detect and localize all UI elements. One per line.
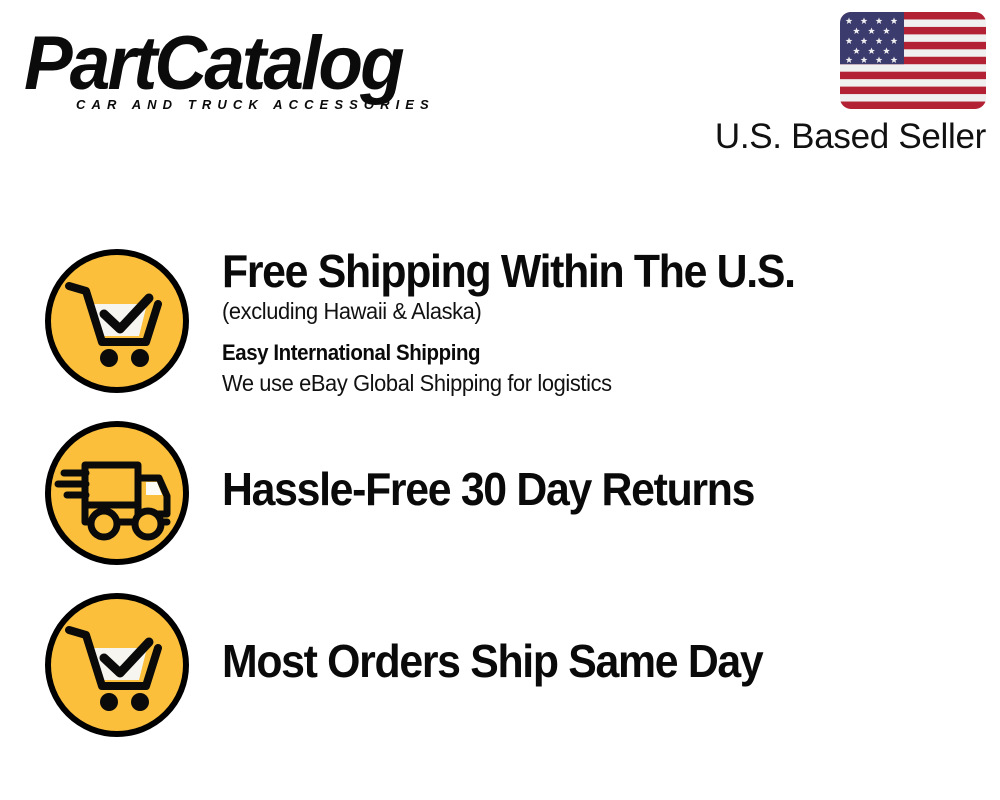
delivery-truck-icon <box>42 418 192 568</box>
brand-logo: PartCatalog CAR AND TRUCK ACCESSORIES <box>24 26 504 118</box>
brand-wordmark: PartCatalog <box>24 26 485 102</box>
us-based-seller-label: U.S. Based Seller <box>560 117 986 157</box>
cart-check-icon <box>42 246 192 396</box>
benefit-subnote: We use eBay Global Shipping for logistic… <box>222 368 944 398</box>
cart-check-icon <box>42 590 192 740</box>
us-flag-icon <box>840 12 986 109</box>
benefit-title: Free Shipping Within The U.S. <box>222 246 929 296</box>
shipping-info-banner: PartCatalog CAR AND TRUCK ACCESSORIES <box>0 0 1000 800</box>
benefit-note: (excluding Hawaii & Alaska) <box>222 296 944 326</box>
benefit-title: Most Orders Ship Same Day <box>222 636 929 686</box>
benefit-subtitle: Easy International Shipping <box>222 338 929 368</box>
benefit-title: Hassle-Free 30 Day Returns <box>222 464 929 514</box>
benefit-text-block: Most Orders Ship Same Day <box>222 636 982 686</box>
benefit-text-block: Hassle-Free 30 Day Returns <box>222 464 982 514</box>
benefit-text-block: Free Shipping Within The U.S. (excluding… <box>222 246 982 398</box>
